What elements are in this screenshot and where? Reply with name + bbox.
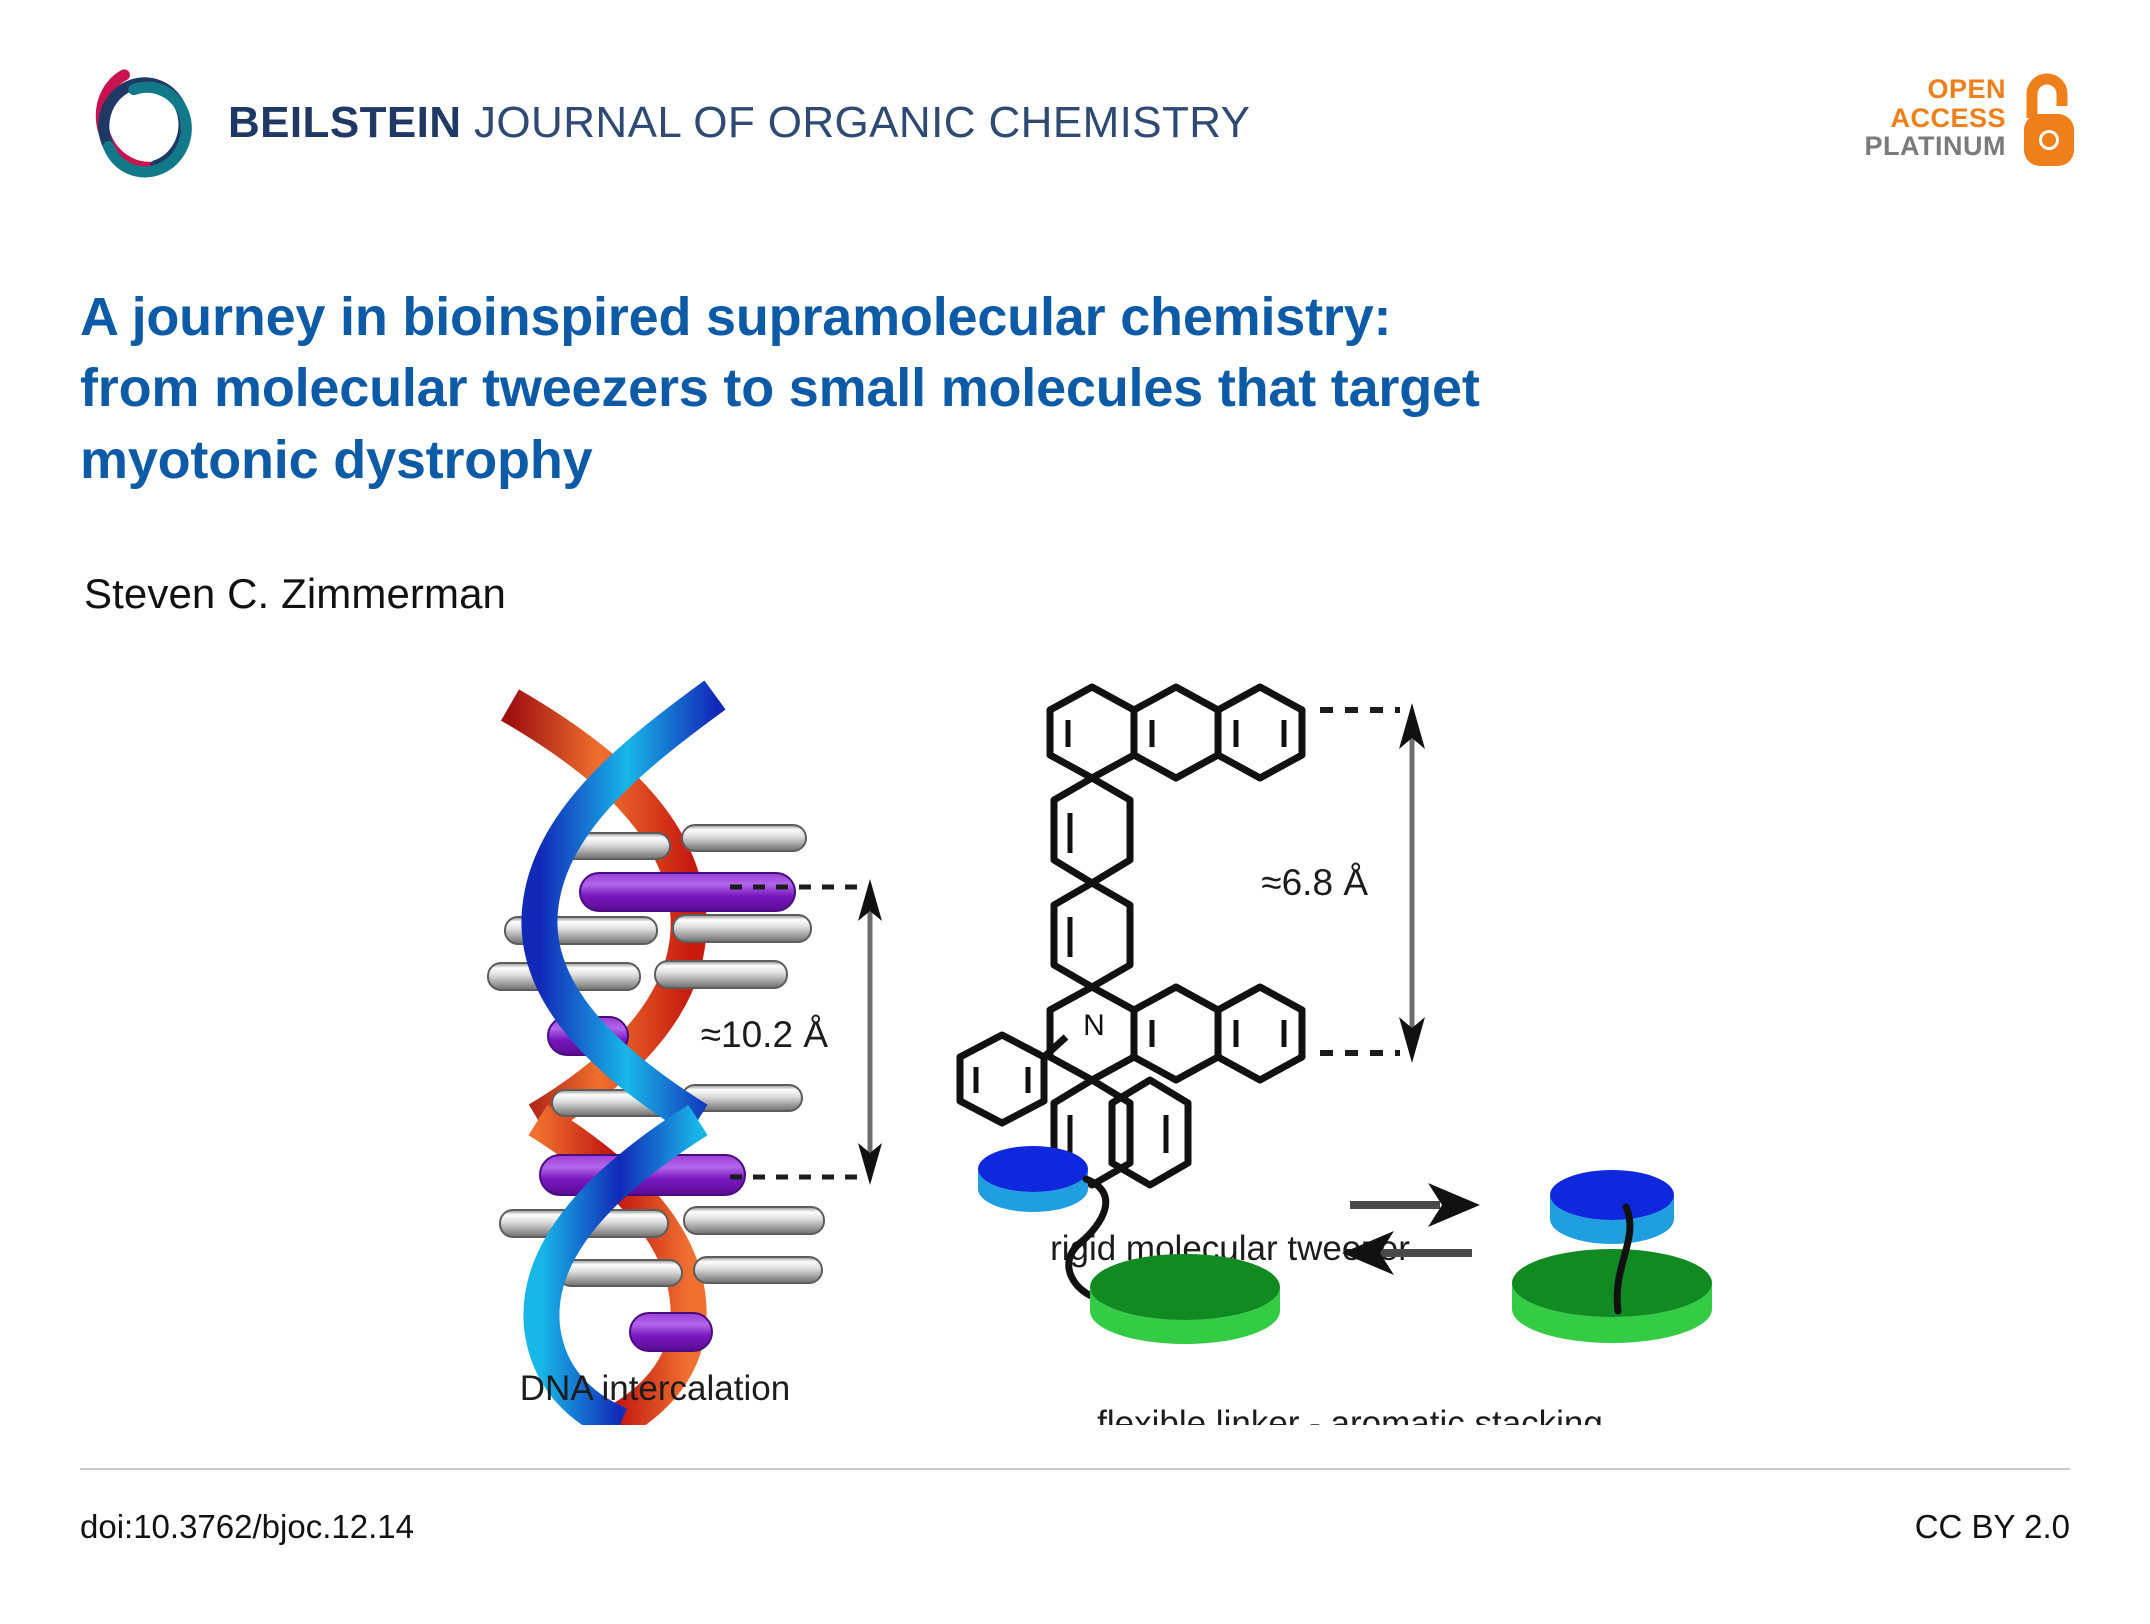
license-text: CC BY 2.0 (1915, 1508, 2070, 1546)
journal-title-bold: BEILSTEIN (228, 98, 461, 147)
page-footer: doi:10.3762/bjoc.12.14 CC BY 2.0 (80, 1508, 2070, 1546)
aromatic-disk-green-open (1090, 1254, 1280, 1320)
dna-helix-figure: ≈10.2 Å DNA intercalation (488, 695, 882, 1425)
open-access-line-platinum: PLATINUM (1865, 132, 2006, 161)
open-access-text: OPEN ACCESS PLATINUM (1865, 75, 2006, 161)
tweezer-pendant-phenyl (960, 1035, 1044, 1123)
article-title-line-2: from molecular tweezers to small molecul… (80, 353, 1960, 424)
tweezer-lower-arm (1134, 987, 1302, 1080)
doi-text[interactable]: doi:10.3762/bjoc.12.14 (80, 1508, 414, 1546)
page-header: BEILSTEIN JOURNAL OF ORGANIC CHEMISTRY O… (0, 0, 2150, 195)
flexible-linker-caption: flexible linker - aromatic stacking (1097, 1404, 1603, 1425)
open-access-line-access: ACCESS (1865, 104, 2006, 133)
aromatic-disk-blue-open (978, 1146, 1088, 1192)
open-access-badge: OPEN ACCESS PLATINUM (1865, 66, 2080, 170)
tweezer-central-ring (1054, 883, 1130, 987)
graphical-abstract: ≈10.2 Å DNA intercalation N (430, 665, 1730, 1425)
open-lock-icon (2018, 66, 2080, 170)
tweezer-upper-arm (1050, 687, 1302, 778)
article-title-line-3: myotonic dystrophy (80, 425, 1960, 496)
article-title-line-1: A journey in bioinspired supramolecular … (80, 282, 1960, 353)
dna-intercalation-caption: DNA intercalation (520, 1369, 790, 1408)
graphical-abstract-svg: ≈10.2 Å DNA intercalation N (430, 665, 1730, 1425)
beilstein-triple-arc-logo-icon (84, 62, 202, 180)
aromatic-disk-green-stacked (1512, 1249, 1712, 1317)
aromatic-disk-blue-stacked (1550, 1170, 1674, 1220)
journal-title-light: JOURNAL OF ORGANIC CHEMISTRY (461, 98, 1250, 147)
tweezer-measure-label: ≈6.8 Å (1261, 862, 1368, 903)
stacked-state (1512, 1170, 1712, 1343)
journal-brand: BEILSTEIN JOURNAL OF ORGANIC CHEMISTRY (84, 62, 1250, 180)
open-access-line-open: OPEN (1865, 75, 2006, 104)
tweezer-nitrogen-label: N (1083, 1009, 1105, 1042)
tweezer-upper-spacer-ring (1054, 778, 1130, 883)
article-title: A journey in bioinspired supramolecular … (80, 282, 1960, 496)
footer-divider (80, 1468, 2070, 1470)
flexible-linker-figure: flexible linker - aromatic stacking (978, 1146, 1712, 1425)
article-author: Steven C. Zimmerman (84, 570, 506, 618)
journal-title: BEILSTEIN JOURNAL OF ORGANIC CHEMISTRY (228, 97, 1250, 145)
dna-measure-label: ≈10.2 Å (701, 1014, 829, 1055)
tweezer-measure-annotation: ≈6.8 Å (1261, 703, 1425, 1063)
tweezer-bottom-ring-right (1112, 1080, 1188, 1185)
